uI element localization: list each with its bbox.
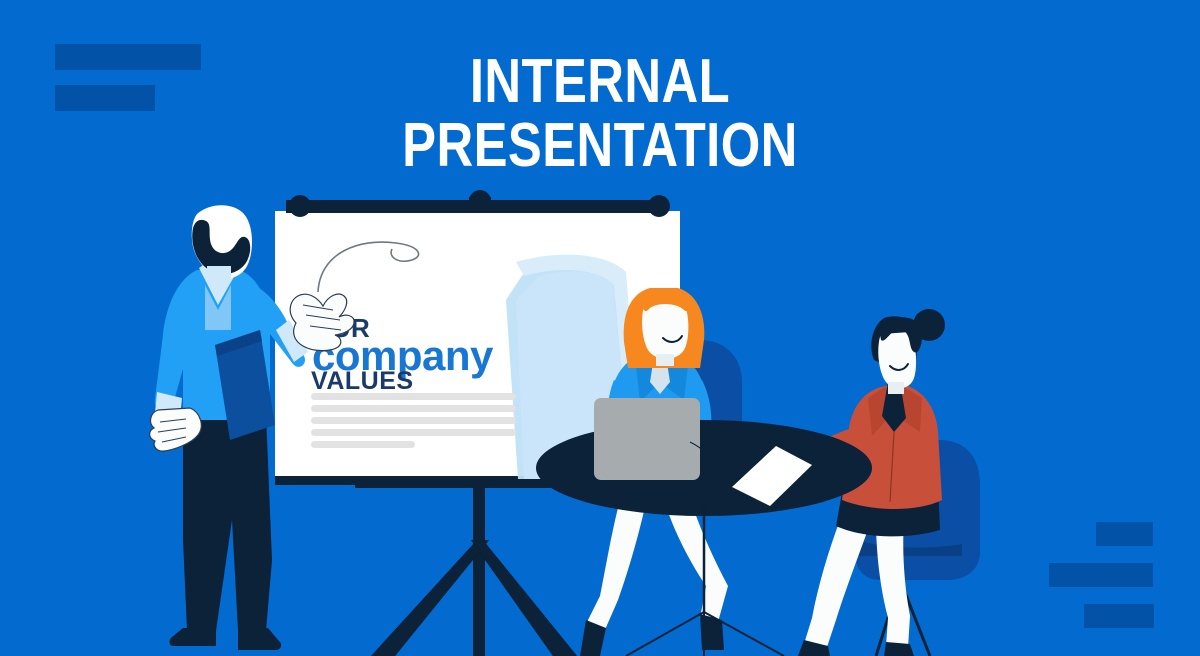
laptop-screen	[594, 398, 700, 480]
whiteboard-clip-center-stem	[469, 197, 491, 213]
illustration-scene: INTERNAL PRESENTATION	[0, 0, 1200, 656]
illustration-svg: INTERNAL PRESENTATION	[0, 0, 1200, 656]
rwoman-shoe-back	[884, 642, 914, 656]
deco-bar-bottom-1	[1096, 522, 1153, 546]
deco-bar-bottom-3	[1084, 604, 1154, 628]
whiteboard-clip-left	[289, 195, 311, 217]
rwoman-neck	[888, 382, 904, 394]
placeholder-line	[311, 405, 516, 412]
title-line-1: INTERNAL	[470, 47, 730, 116]
title-line-2: PRESENTATION	[402, 111, 798, 180]
deco-bar-top-1	[55, 44, 201, 70]
placeholder-line	[311, 441, 415, 448]
owoman-neck	[656, 354, 674, 366]
heading-values: VALUES	[311, 367, 414, 395]
presenter-neck	[207, 266, 231, 282]
laptop[interactable]	[594, 398, 700, 480]
deco-bar-top-2	[55, 85, 155, 111]
whiteboard-clip-right	[648, 195, 670, 217]
placeholder-line	[311, 429, 516, 436]
placeholder-line	[311, 393, 516, 400]
owoman-face	[642, 302, 688, 359]
deco-bar-bottom-2	[1049, 563, 1153, 587]
placeholder-line	[311, 417, 516, 424]
